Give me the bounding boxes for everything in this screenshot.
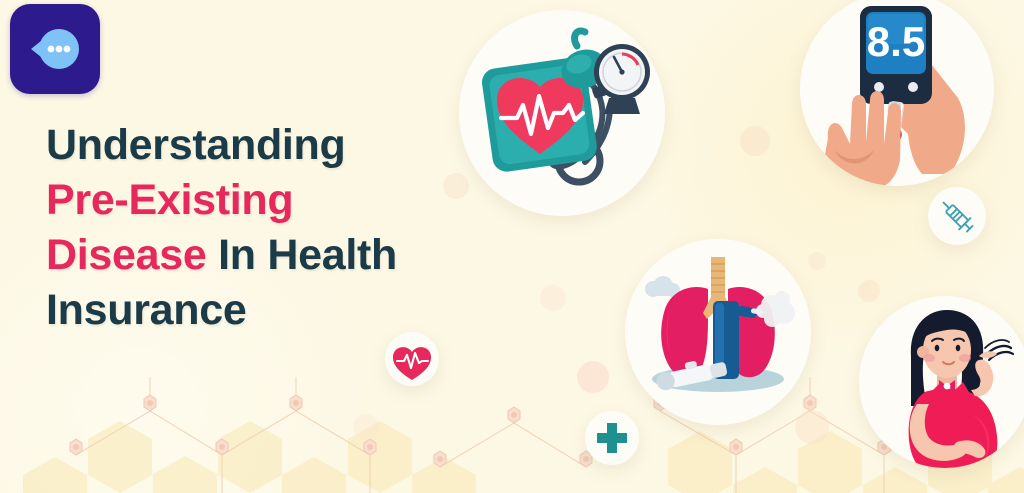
illustration-heartbeat (385, 332, 439, 386)
headline-line-4: Insurance (46, 283, 516, 338)
heartbeat-icon (385, 332, 439, 386)
glucose-reading: 8.5 (867, 18, 925, 65)
syringe-icon (928, 187, 986, 245)
headline-accent-disease: Disease (46, 231, 206, 279)
blood-pressure-monitor-icon (459, 10, 665, 216)
medical-cross-icon (585, 411, 639, 465)
headline-line-3: Disease In Health (46, 228, 516, 283)
illustration-blood-pressure-monitor (459, 10, 665, 216)
decor-dot (740, 126, 770, 156)
decor-dot (353, 414, 379, 440)
glucose-meter-icon: 8.5 (800, 0, 994, 186)
decor-dot (795, 410, 829, 444)
pregnant-woman-icon (859, 296, 1024, 468)
decor-dot (540, 285, 566, 311)
page-title: Understanding Pre-Existing Disease In He… (46, 118, 516, 338)
headline-line-1: Understanding (46, 118, 516, 173)
illustration-lungs-inhaler (625, 239, 811, 425)
headline-line-2: Pre-Existing (46, 173, 516, 228)
brand-logo[interactable] (10, 4, 100, 94)
headline-line-3-rest: In Health (206, 231, 397, 279)
decor-dot (577, 361, 609, 393)
chat-bubble-icon (10, 4, 100, 94)
health-insurance-banner: Understanding Pre-Existing Disease In He… (0, 0, 1024, 493)
illustration-medical-cross (585, 411, 639, 465)
lungs-inhaler-icon (625, 239, 811, 425)
illustration-glucose-meter: 8.5 (800, 0, 994, 186)
decor-dot (858, 280, 880, 302)
illustration-syringe (928, 187, 986, 245)
illustration-pregnant-woman (859, 296, 1024, 468)
decor-dot (808, 252, 826, 270)
